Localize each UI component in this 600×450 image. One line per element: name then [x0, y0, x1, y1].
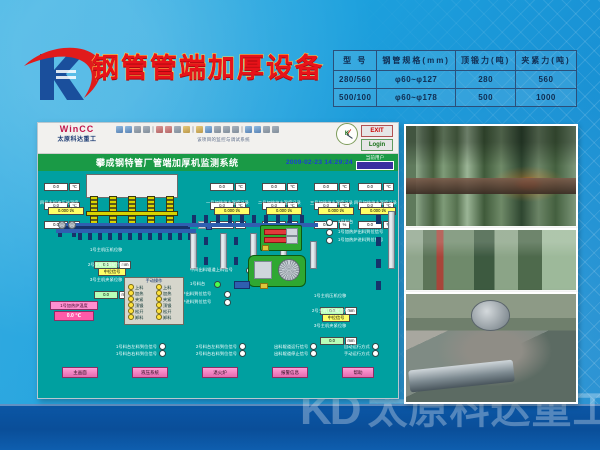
control-item-label: 加热: [163, 291, 172, 296]
control-item-label: 卸料: [163, 315, 172, 320]
readout-unit: ℃: [287, 183, 298, 191]
wincc-logo: WinCC 太原科达重工: [38, 123, 112, 144]
clamp-unit: [376, 259, 381, 268]
clamp-unit: [216, 215, 220, 223]
press-body-panel: [254, 261, 272, 279]
furnace-temp-value: 0.0 ℃: [54, 311, 94, 321]
scada-screenshot: WinCC 太原科达重工: [37, 122, 399, 399]
bottom-indicator-group: 自动运行方式 手动运行方式: [344, 343, 379, 357]
spec-col-clamp-force: 夹紧力(吨): [516, 51, 576, 71]
conveyor-roller: [68, 221, 76, 229]
control-item-label: 松开: [163, 309, 172, 314]
table-row: 280/560 φ60~φ127 280 560: [334, 71, 577, 89]
motor-readout-label: 2号主机顶锻缸位移: [88, 262, 125, 267]
scada-system-title: 攀成钢特管厂管端加厚机监测系统: [96, 156, 239, 169]
clamp-unit: [204, 257, 208, 265]
nav-button-alarms[interactable]: 报警信息: [272, 367, 308, 378]
indicator-label: 1号料台左料到位信号: [116, 344, 157, 349]
flywheel-icon: [278, 259, 300, 281]
spec-table: 型 号 钢管规格(mm) 顶锻力(吨) 夹紧力(吨) 280/560 φ60~φ…: [333, 50, 577, 107]
motor-readout-label: 1号主机压机位移: [90, 247, 122, 252]
cell-upset-force: 500: [455, 89, 515, 107]
cell-clamp-force: 560: [516, 71, 576, 89]
spec-col-pipe-size: 钢管规格(mm): [377, 51, 456, 71]
undo-icon[interactable]: [183, 126, 190, 133]
furnace-hood: [86, 174, 178, 198]
control-panel-right-column: 上料 加热 夹紧 顶锻 松开 卸料: [156, 284, 180, 320]
cell-pipe-size: φ60~φ127: [377, 71, 456, 89]
indicator-label: 1号料台: [338, 219, 353, 224]
new-file-icon[interactable]: [116, 126, 123, 133]
indicator-lamp: [326, 229, 333, 236]
indicator-lamp: [310, 350, 317, 357]
photo-workshop-line-image: [406, 230, 576, 290]
control-panel-left-column: 上料 加热 夹紧 顶锻 松开 卸料: [128, 284, 152, 320]
press-feed-block: [234, 281, 250, 289]
toolbar-icon-row[interactable]: 该项目的监控与调试系统: [112, 123, 333, 143]
scada-toolbar: WinCC 太原科达重工: [38, 123, 398, 154]
control-item-label: 夹紧: [163, 297, 172, 302]
control-item-label: 上料: [163, 285, 172, 290]
press-valve: [262, 245, 269, 251]
bottom-indicator-group: 2号料台左料到位信号 2号料台右料到位信号: [196, 343, 246, 357]
readout-unit: ℃: [383, 183, 394, 191]
cell-model: 280/560: [334, 71, 377, 89]
indicator-label: 2号料台右料到位信号: [196, 351, 237, 356]
readout-group-label: 一号加热炉水温度记录: [206, 200, 249, 205]
readout-unit: ℃: [69, 183, 80, 191]
control-item-label: 夹紧: [135, 297, 144, 302]
readout-group-label: 二号加热炉水温度记录: [258, 200, 301, 205]
toolbar-separator: [192, 126, 194, 133]
scada-mimic-diagram: 0.0℃ 0.0℃ 0.0% 四号主机液压站温度 0.000 t/s 0.0℃ …: [38, 171, 398, 399]
readout-value: 0.0: [262, 183, 286, 191]
trend-icon[interactable]: [205, 126, 212, 133]
control-item-label: 顶锻: [163, 303, 172, 308]
right-readout-label: 2号主机顶锻缸位移: [312, 308, 349, 313]
help-icon[interactable]: [272, 126, 279, 133]
rail-lower: [56, 229, 196, 233]
clamp-unit: [300, 215, 304, 223]
current-user-label: 当前用户: [356, 155, 394, 160]
readout-value: 0.0: [358, 183, 382, 191]
spec-col-model: 型 号: [334, 51, 377, 71]
indicator-label: 出料辊道运行信号: [274, 344, 308, 349]
footer-band: [0, 404, 600, 450]
indicator-lamp: [159, 343, 166, 350]
photo-workshop-line: [404, 228, 578, 292]
clamp-unit: [376, 215, 381, 224]
wincc-logo-word: WinCC: [42, 125, 112, 134]
clamp-unit: [240, 215, 244, 223]
photo-induction-heater: [404, 124, 578, 228]
readout-group-total: 0.000 t/s: [266, 207, 302, 215]
conveyor-roller: [58, 221, 66, 229]
clamp-unit: [288, 215, 292, 223]
clamp-unit: [204, 215, 208, 223]
press-cylinder-red: [264, 229, 288, 235]
nav-button-hydraulic[interactable]: 液压系统: [132, 367, 168, 378]
bottom-indicator-group: 出料辊道运行信号 出料辊道停止信号: [274, 343, 317, 357]
switch-icon[interactable]: [156, 314, 162, 320]
cell-upset-force: 280: [455, 71, 515, 89]
motor-readout-value: 0.0: [94, 291, 118, 299]
clamp-unit: [228, 215, 232, 223]
toolbar-separator: [241, 126, 243, 133]
press-head: [286, 236, 298, 244]
bottom-indicator-group: 1号料台左料到位信号 1号料台右料到位信号: [116, 343, 166, 357]
motor-readout-label: 3号主机夹紧位移: [90, 277, 122, 282]
report-icon[interactable]: [214, 126, 221, 133]
furnace-column: [166, 196, 174, 224]
control-item-label: 顶锻: [135, 303, 144, 308]
indicator-label: 2号料台左料到位信号: [196, 344, 237, 349]
readout-group-total: 0.000 t/s: [214, 207, 250, 215]
readout-group-label: 四号加热炉水温度记录: [354, 200, 397, 205]
login-button[interactable]: Login: [361, 139, 393, 151]
clamp-unit: [192, 215, 196, 223]
nav-button-help[interactable]: 帮助: [342, 367, 374, 378]
indicator-lamp: [224, 291, 231, 298]
print-icon[interactable]: [143, 126, 150, 133]
hydraulic-rod: [220, 233, 227, 269]
right-readout-value: 0.0: [320, 337, 344, 345]
settings-icon[interactable]: [263, 126, 270, 133]
nav-button-annealing[interactable]: 退火炉: [202, 367, 238, 378]
photo-upset-pipe-end: [404, 292, 578, 404]
photo-upset-pipe-end-image: [406, 294, 576, 402]
press-valve: [260, 283, 268, 289]
clamp-unit: [276, 215, 280, 223]
right-readout-label: 1号主机压机位移: [314, 293, 346, 298]
nav-next-icon[interactable]: [254, 126, 261, 133]
indicator-lamp: [372, 350, 379, 357]
readout-value: 0.0: [210, 183, 234, 191]
readout-unit: ℃: [339, 183, 350, 191]
hydraulic-rod: [388, 211, 395, 269]
clock-widget: K: [333, 123, 361, 145]
paste-icon[interactable]: [174, 126, 181, 133]
wincc-logo-sub: 太原科达重工: [42, 137, 112, 144]
indicator-label: 自动运行方式: [344, 344, 370, 349]
clock-center-mark: K: [345, 131, 349, 137]
nav-button-main-screen[interactable]: 主画面: [62, 367, 98, 378]
indicator-lamp: [239, 350, 246, 357]
indicator-lamp: [159, 350, 166, 357]
clamp-unit: [234, 237, 238, 245]
indicator-lamp: [372, 343, 379, 350]
furnace-column: [90, 196, 98, 224]
clock-icon: K: [336, 123, 358, 145]
readout-unit: ℃: [235, 183, 246, 191]
table-row: 500/100 φ60~φ178 500 1000: [334, 89, 577, 107]
indicator-label: 手动运行方式: [344, 351, 370, 356]
page-root: KD 太原科达重工 钢管管端加厚设备 型 号 钢管规格(mm) 顶锻力(吨) 夹…: [0, 0, 600, 450]
indicator-lamp: [214, 281, 221, 288]
readout-group-total: 0.000 t/s: [318, 207, 354, 215]
save-icon[interactable]: [134, 126, 141, 133]
furnace-column: [109, 196, 117, 224]
page-title: 钢管管端加厚设备: [92, 46, 324, 85]
hydraulic-rod: [310, 241, 317, 269]
clamp-row-upper: [188, 215, 318, 224]
alarm-icon[interactable]: [196, 126, 203, 133]
press-cylinder-red: [264, 237, 288, 243]
indicator-lamp: [310, 343, 317, 350]
current-user-field[interactable]: [356, 161, 394, 170]
cell-pipe-size: φ60~φ178: [377, 89, 456, 107]
indicator-label: 中间出料辊道上料信号: [190, 267, 233, 272]
clamp-unit: [234, 257, 238, 265]
indicator-label: 1号料台右料到位信号: [116, 351, 157, 356]
toolbar-buttons: EXIT Login: [361, 123, 398, 153]
indicator-lamp: [326, 219, 333, 226]
indicator-lamp: [239, 343, 246, 350]
toolbar-separator: [152, 126, 154, 133]
right-readout-value: 中位信号: [322, 314, 350, 322]
control-item-label: 加热: [135, 291, 144, 296]
left-group-total: 0.000 t/s: [48, 207, 84, 215]
clamp-unit: [252, 215, 256, 223]
control-item-label: 上料: [135, 285, 144, 290]
manual-control-panel[interactable]: 手动操作 上料 加热 夹紧 顶锻 松开 卸料 上料 加热 夹紧 顶锻: [124, 277, 184, 325]
zoom-out-icon[interactable]: [232, 126, 239, 133]
control-item-label: 卸料: [135, 315, 144, 320]
press-head: [286, 228, 298, 236]
cut-icon[interactable]: [156, 126, 163, 133]
readout-value: 0.0: [314, 183, 338, 191]
photo-induction-heater-image: [406, 126, 576, 226]
right-readout-label: 3号主机夹紧位移: [314, 323, 346, 328]
motor-readout-value: 中位信号: [98, 268, 126, 276]
toolbar-note: 该项目的监控与调试系统: [116, 137, 331, 143]
indicator-label: 1号料台: [190, 281, 205, 286]
scada-timestamp: 2009-02-23 14:29:24: [286, 159, 353, 166]
switch-icon[interactable]: [128, 314, 134, 320]
current-user-box[interactable]: 当前用户: [356, 155, 394, 170]
control-item-label: 松开: [135, 309, 144, 314]
exit-button[interactable]: EXIT: [361, 125, 393, 137]
indicator-lamp: [326, 237, 333, 244]
furnace-column: [128, 196, 136, 224]
cell-model: 500/100: [334, 89, 377, 107]
indicator-lamp: [224, 299, 231, 306]
open-file-icon[interactable]: [125, 126, 132, 133]
clamp-unit: [376, 281, 381, 290]
scada-titlebar: 攀成钢特管厂管端加厚机监测系统 2009-02-23 14:29:24 当前用户: [38, 154, 398, 171]
copy-icon[interactable]: [165, 126, 172, 133]
left-group-label: 四号主机液压站温度: [40, 200, 79, 205]
zoom-in-icon[interactable]: [223, 126, 230, 133]
cell-clamp-force: 1000: [516, 89, 576, 107]
right-clamp-column: [374, 211, 384, 301]
furnace-column: [147, 196, 155, 224]
hydraulic-rod: [190, 233, 197, 269]
clamp-unit: [376, 237, 381, 246]
indicator-label: 出料辊道停止信号: [274, 351, 308, 356]
furnace-temp-label: 1号加热炉温度: [50, 301, 98, 310]
readout-value: 0.0: [44, 183, 68, 191]
spec-col-upset-force: 顶锻力(吨): [455, 51, 515, 71]
nav-prev-icon[interactable]: [245, 126, 252, 133]
spec-table-header-row: 型 号 钢管规格(mm) 顶锻力(吨) 夹紧力(吨): [334, 51, 577, 71]
furnace-crossbeam: [86, 211, 178, 216]
readout-group-label: 三号加热炉水温度记录: [310, 200, 353, 205]
clamp-unit: [264, 215, 268, 223]
clamp-unit: [204, 237, 208, 245]
